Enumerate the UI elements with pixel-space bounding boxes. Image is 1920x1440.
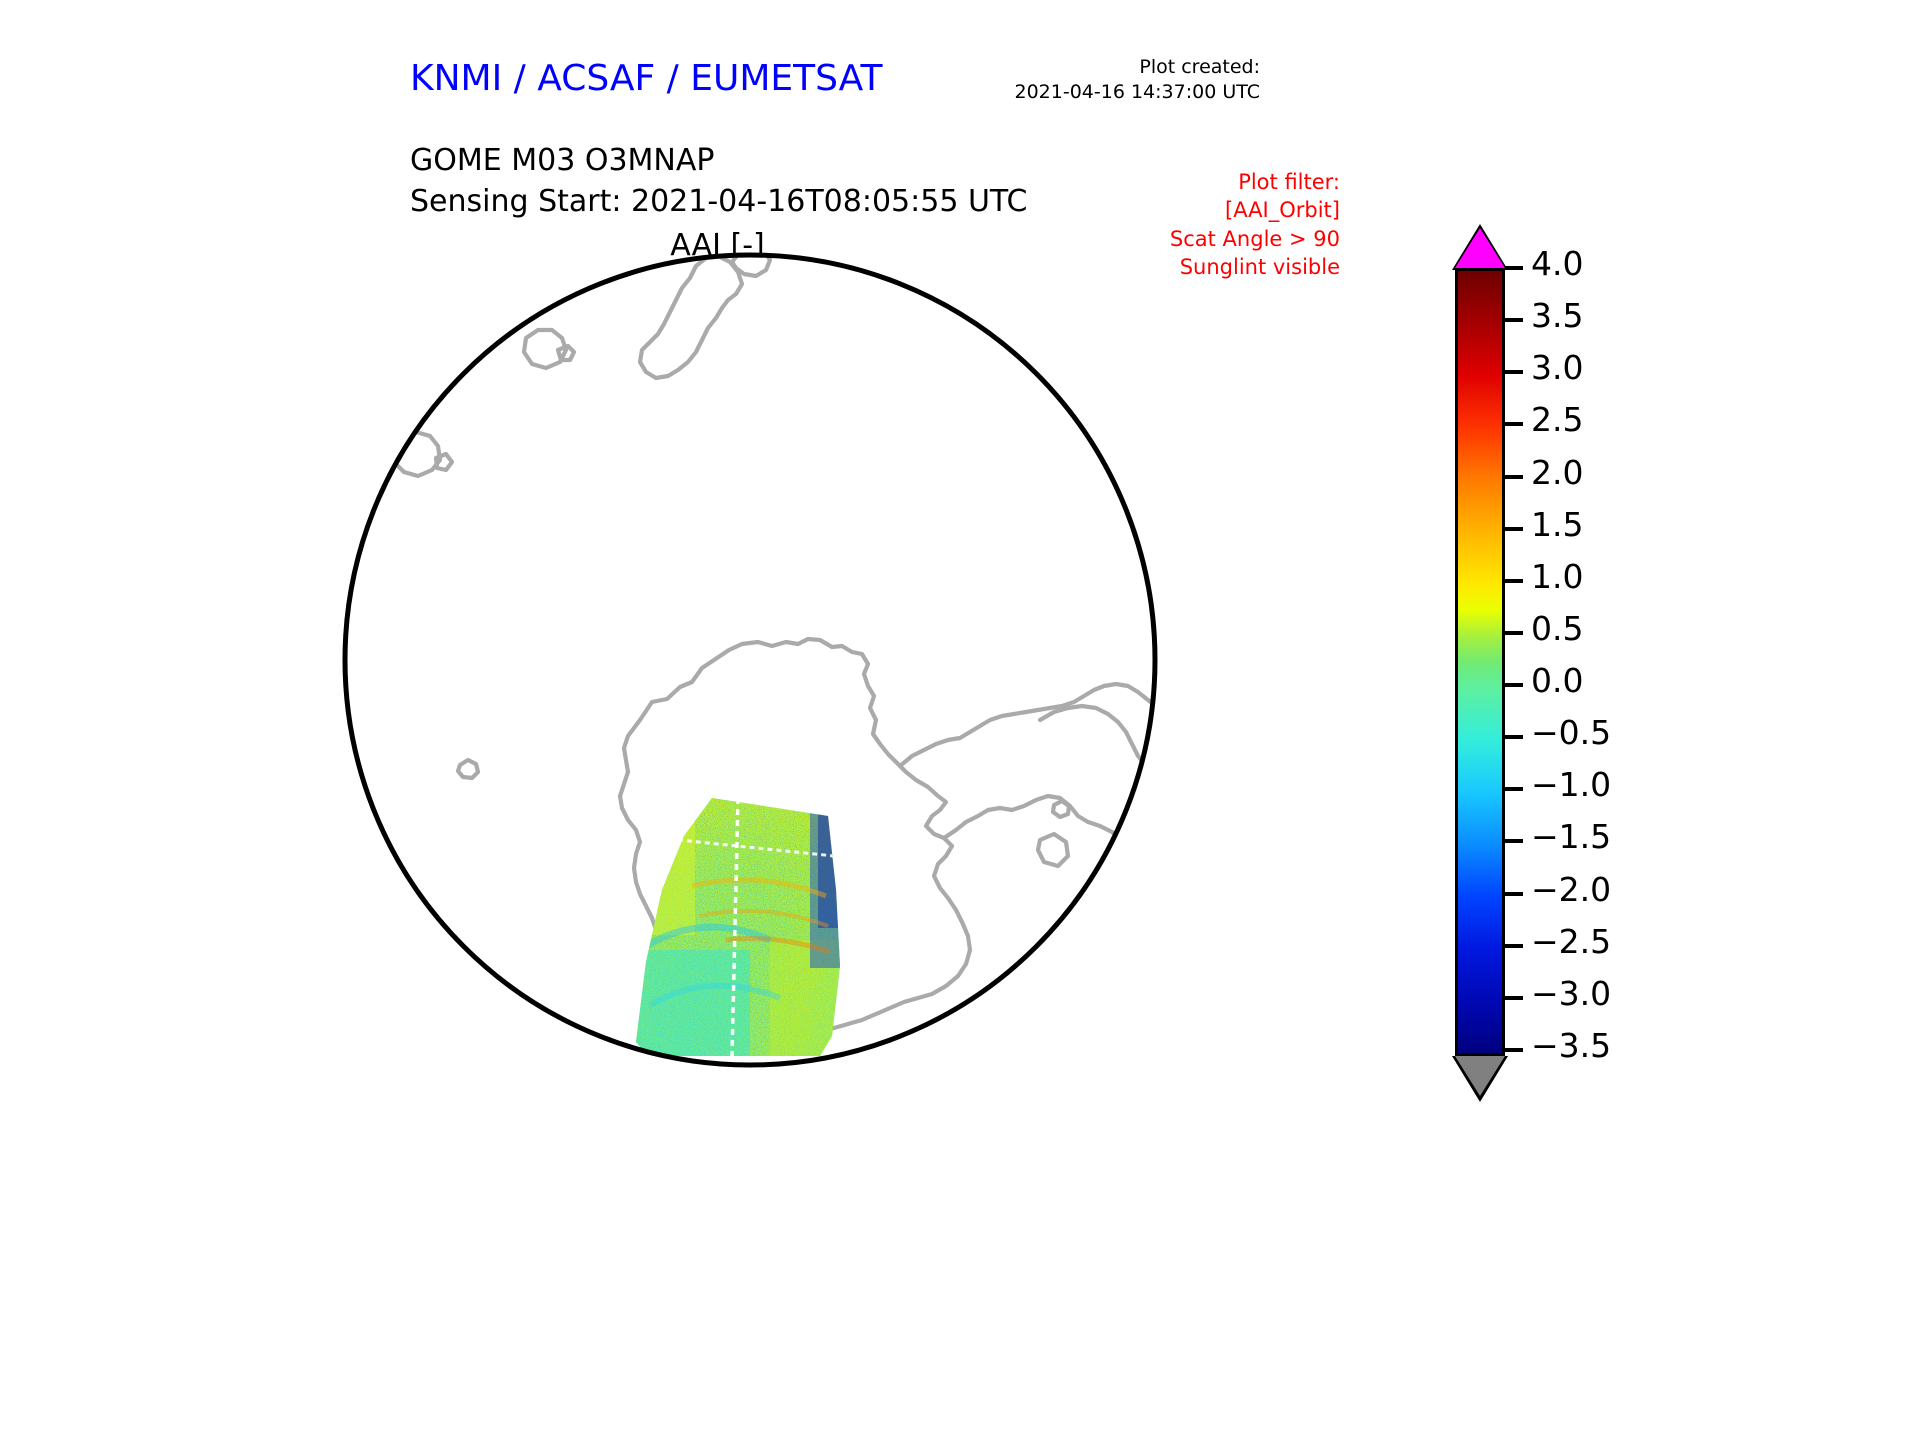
- dataset-info-block: GOME M03 O3MNAP Sensing Start: 2021-04-1…: [410, 140, 1027, 223]
- colorbar-tick: [1505, 683, 1523, 687]
- plot-filter-scat-angle: Scat Angle > 90: [1170, 225, 1340, 253]
- colorbar-tick: [1505, 996, 1523, 1000]
- colorbar-tick: [1505, 631, 1523, 635]
- colorbar-tick: [1505, 579, 1523, 583]
- colorbar-tick-label: −3.5: [1531, 1029, 1611, 1062]
- colorbar-tick: [1505, 422, 1523, 426]
- plot-canvas: KNMI / ACSAF / EUMETSAT Plot created: 20…: [0, 0, 1920, 1440]
- colorbar[interactable]: 4.03.53.02.52.01.51.00.50.0−0.5−1.0−1.5−…: [1445, 228, 1785, 1298]
- colorbar-tick: [1505, 1048, 1523, 1052]
- plot-filter-label: Plot filter:: [1170, 168, 1340, 196]
- colorbar-tick: [1505, 944, 1523, 948]
- colorbar-tick-label: 4.0: [1531, 247, 1583, 280]
- colorbar-tick-label: −3.0: [1531, 977, 1611, 1010]
- plot-created-block: Plot created: 2021-04-16 14:37:00 UTC: [1015, 55, 1261, 105]
- plot-created-timestamp: 2021-04-16 14:37:00 UTC: [1015, 80, 1261, 105]
- instrument-line: GOME M03 O3MNAP: [410, 140, 1027, 181]
- colorbar-gradient: [1455, 268, 1505, 1056]
- colorbar-tick: [1505, 527, 1523, 531]
- colorbar-tick: [1505, 735, 1523, 739]
- polar-map[interactable]: [340, 250, 1170, 1080]
- colorbar-tick-label: −0.5: [1531, 716, 1611, 749]
- coast-fragment-far-left: [340, 408, 388, 442]
- colorbar-tick-label: 2.5: [1531, 403, 1583, 436]
- organisation-title: KNMI / ACSAF / EUMETSAT: [410, 58, 882, 99]
- colorbar-tick-label: −2.0: [1531, 873, 1611, 906]
- colorbar-tick: [1505, 787, 1523, 791]
- colorbar-tick-label: −1.0: [1531, 768, 1611, 801]
- colorbar-tick-label: 3.5: [1531, 299, 1583, 332]
- colorbar-tick: [1505, 318, 1523, 322]
- plot-created-label: Plot created:: [1015, 55, 1261, 80]
- colorbar-tick-label: 1.5: [1531, 508, 1583, 541]
- colorbar-tick: [1505, 839, 1523, 843]
- plot-filter-sunglint: Sunglint visible: [1170, 253, 1340, 281]
- colorbar-tick: [1505, 266, 1523, 270]
- colorbar-tick: [1505, 370, 1523, 374]
- colorbar-tick-label: 3.0: [1531, 351, 1583, 384]
- colorbar-tick-label: −1.5: [1531, 820, 1611, 853]
- colorbar-tick-label: 2.0: [1531, 456, 1583, 489]
- plot-filter-block: Plot filter: [AAI_Orbit] Scat Angle > 90…: [1170, 168, 1340, 281]
- colorbar-tick-label: −2.5: [1531, 925, 1611, 958]
- colorbar-tick: [1505, 892, 1523, 896]
- map-panel[interactable]: [340, 250, 1170, 1080]
- colorbar-tick: [1505, 475, 1523, 479]
- sensing-start-line: Sensing Start: 2021-04-16T08:05:55 UTC: [410, 181, 1027, 222]
- colorbar-tick-label: 1.0: [1531, 560, 1583, 593]
- colorbar-tick-label: 0.5: [1531, 612, 1583, 645]
- plot-filter-product: [AAI_Orbit]: [1170, 196, 1340, 224]
- colorbar-under-range-arrow: [1455, 1056, 1505, 1096]
- colorbar-tick-label: 0.0: [1531, 664, 1583, 697]
- colorbar-over-range-arrow: [1455, 228, 1505, 268]
